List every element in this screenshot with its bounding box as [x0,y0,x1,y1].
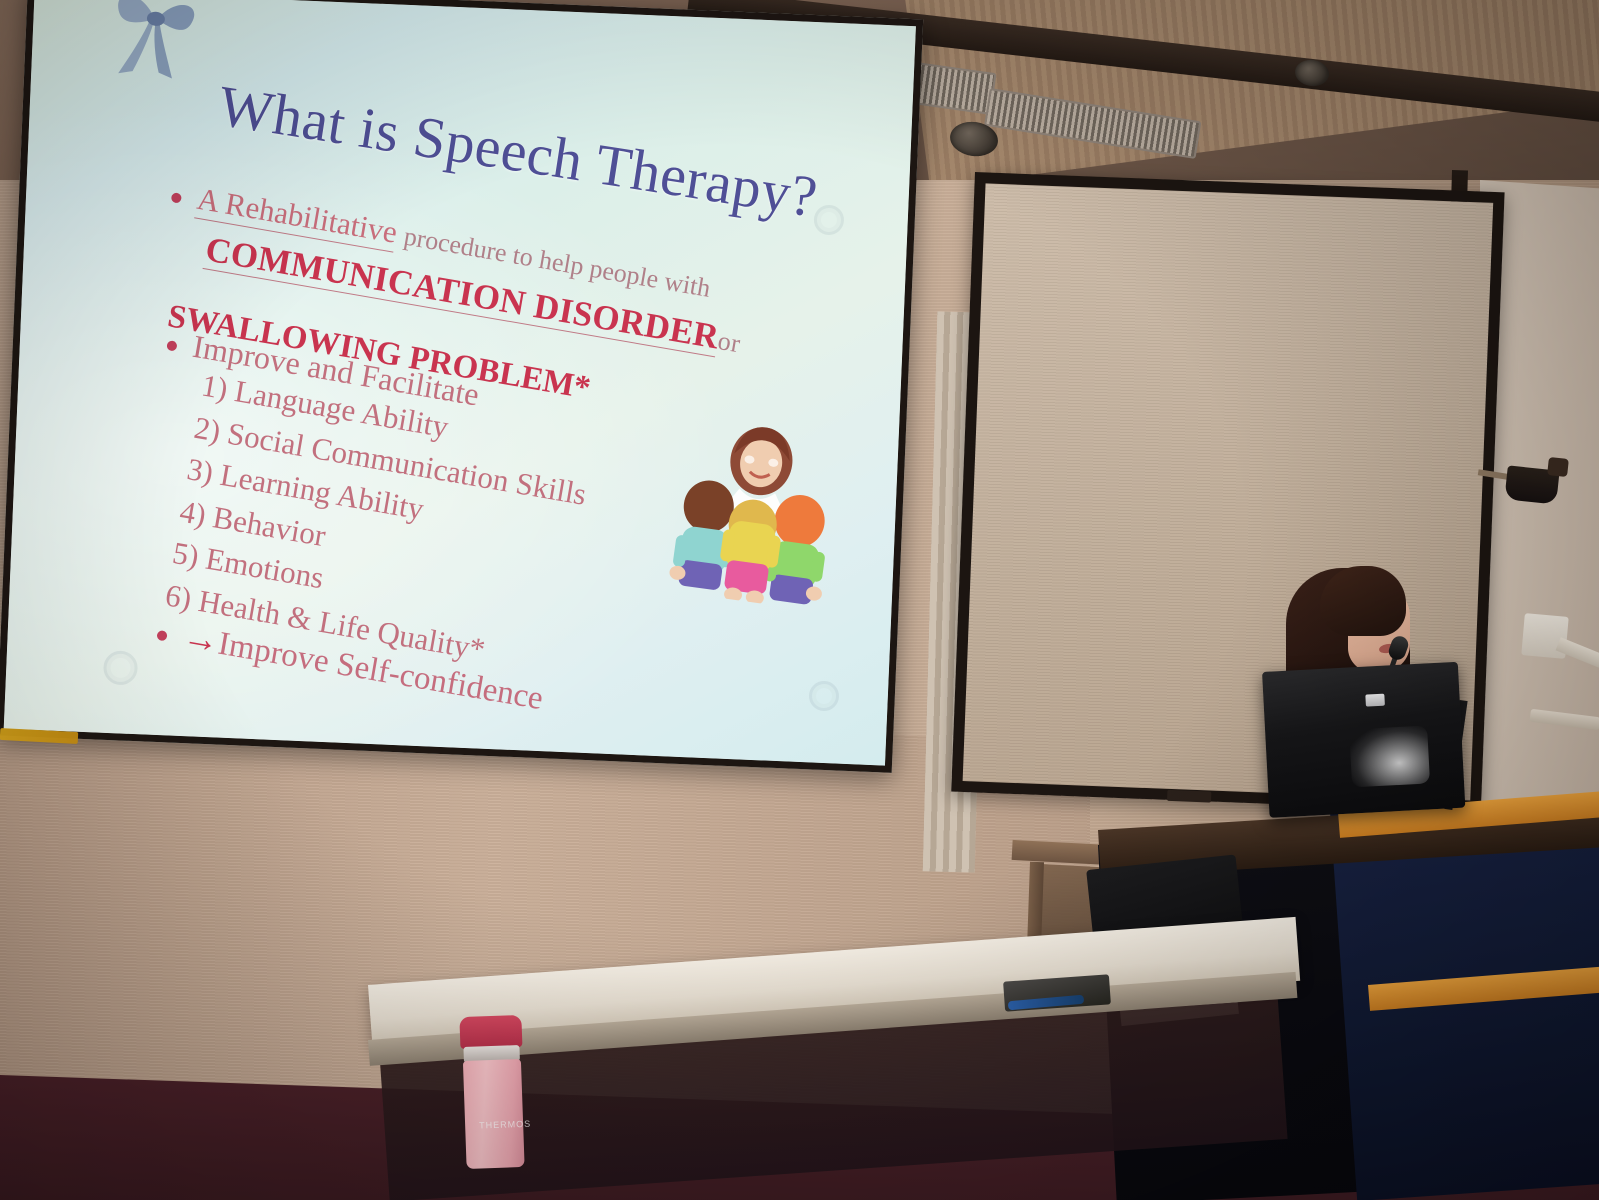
bullet-dot-icon [171,192,183,204]
thermos-brand-text: THERMOS [479,1119,531,1131]
thermos-body: THERMOS [463,1059,525,1169]
main-projection-screen: What is Speech Therapy? A Rehabilitative… [0,0,923,773]
bullet-dot-icon [166,340,178,352]
thermos-cap [459,1015,522,1049]
projected-slide: What is Speech Therapy? A Rehabilitative… [4,0,916,766]
children-clipart-icon [653,405,856,613]
emphasis-or: or [716,326,743,358]
speaker-knob [1547,457,1569,477]
screen-pull-tab [1167,790,1211,803]
monitor-brand-label [1365,694,1385,707]
presenter-hair-front [1320,566,1406,636]
slide-watermark-logo [103,650,138,685]
monitor-glare [1349,725,1430,787]
presenter-monitor[interactable] [1262,662,1465,818]
slide-watermark-logo [813,204,844,235]
ribbon-bow-icon [95,0,211,92]
lecture-hall-photo: What is Speech Therapy? A Rehabilitative… [0,0,1599,1200]
thermos-bottle[interactable]: THERMOS [459,1015,526,1169]
bullet-dot-icon [156,630,168,642]
slide-watermark-logo [809,681,840,712]
